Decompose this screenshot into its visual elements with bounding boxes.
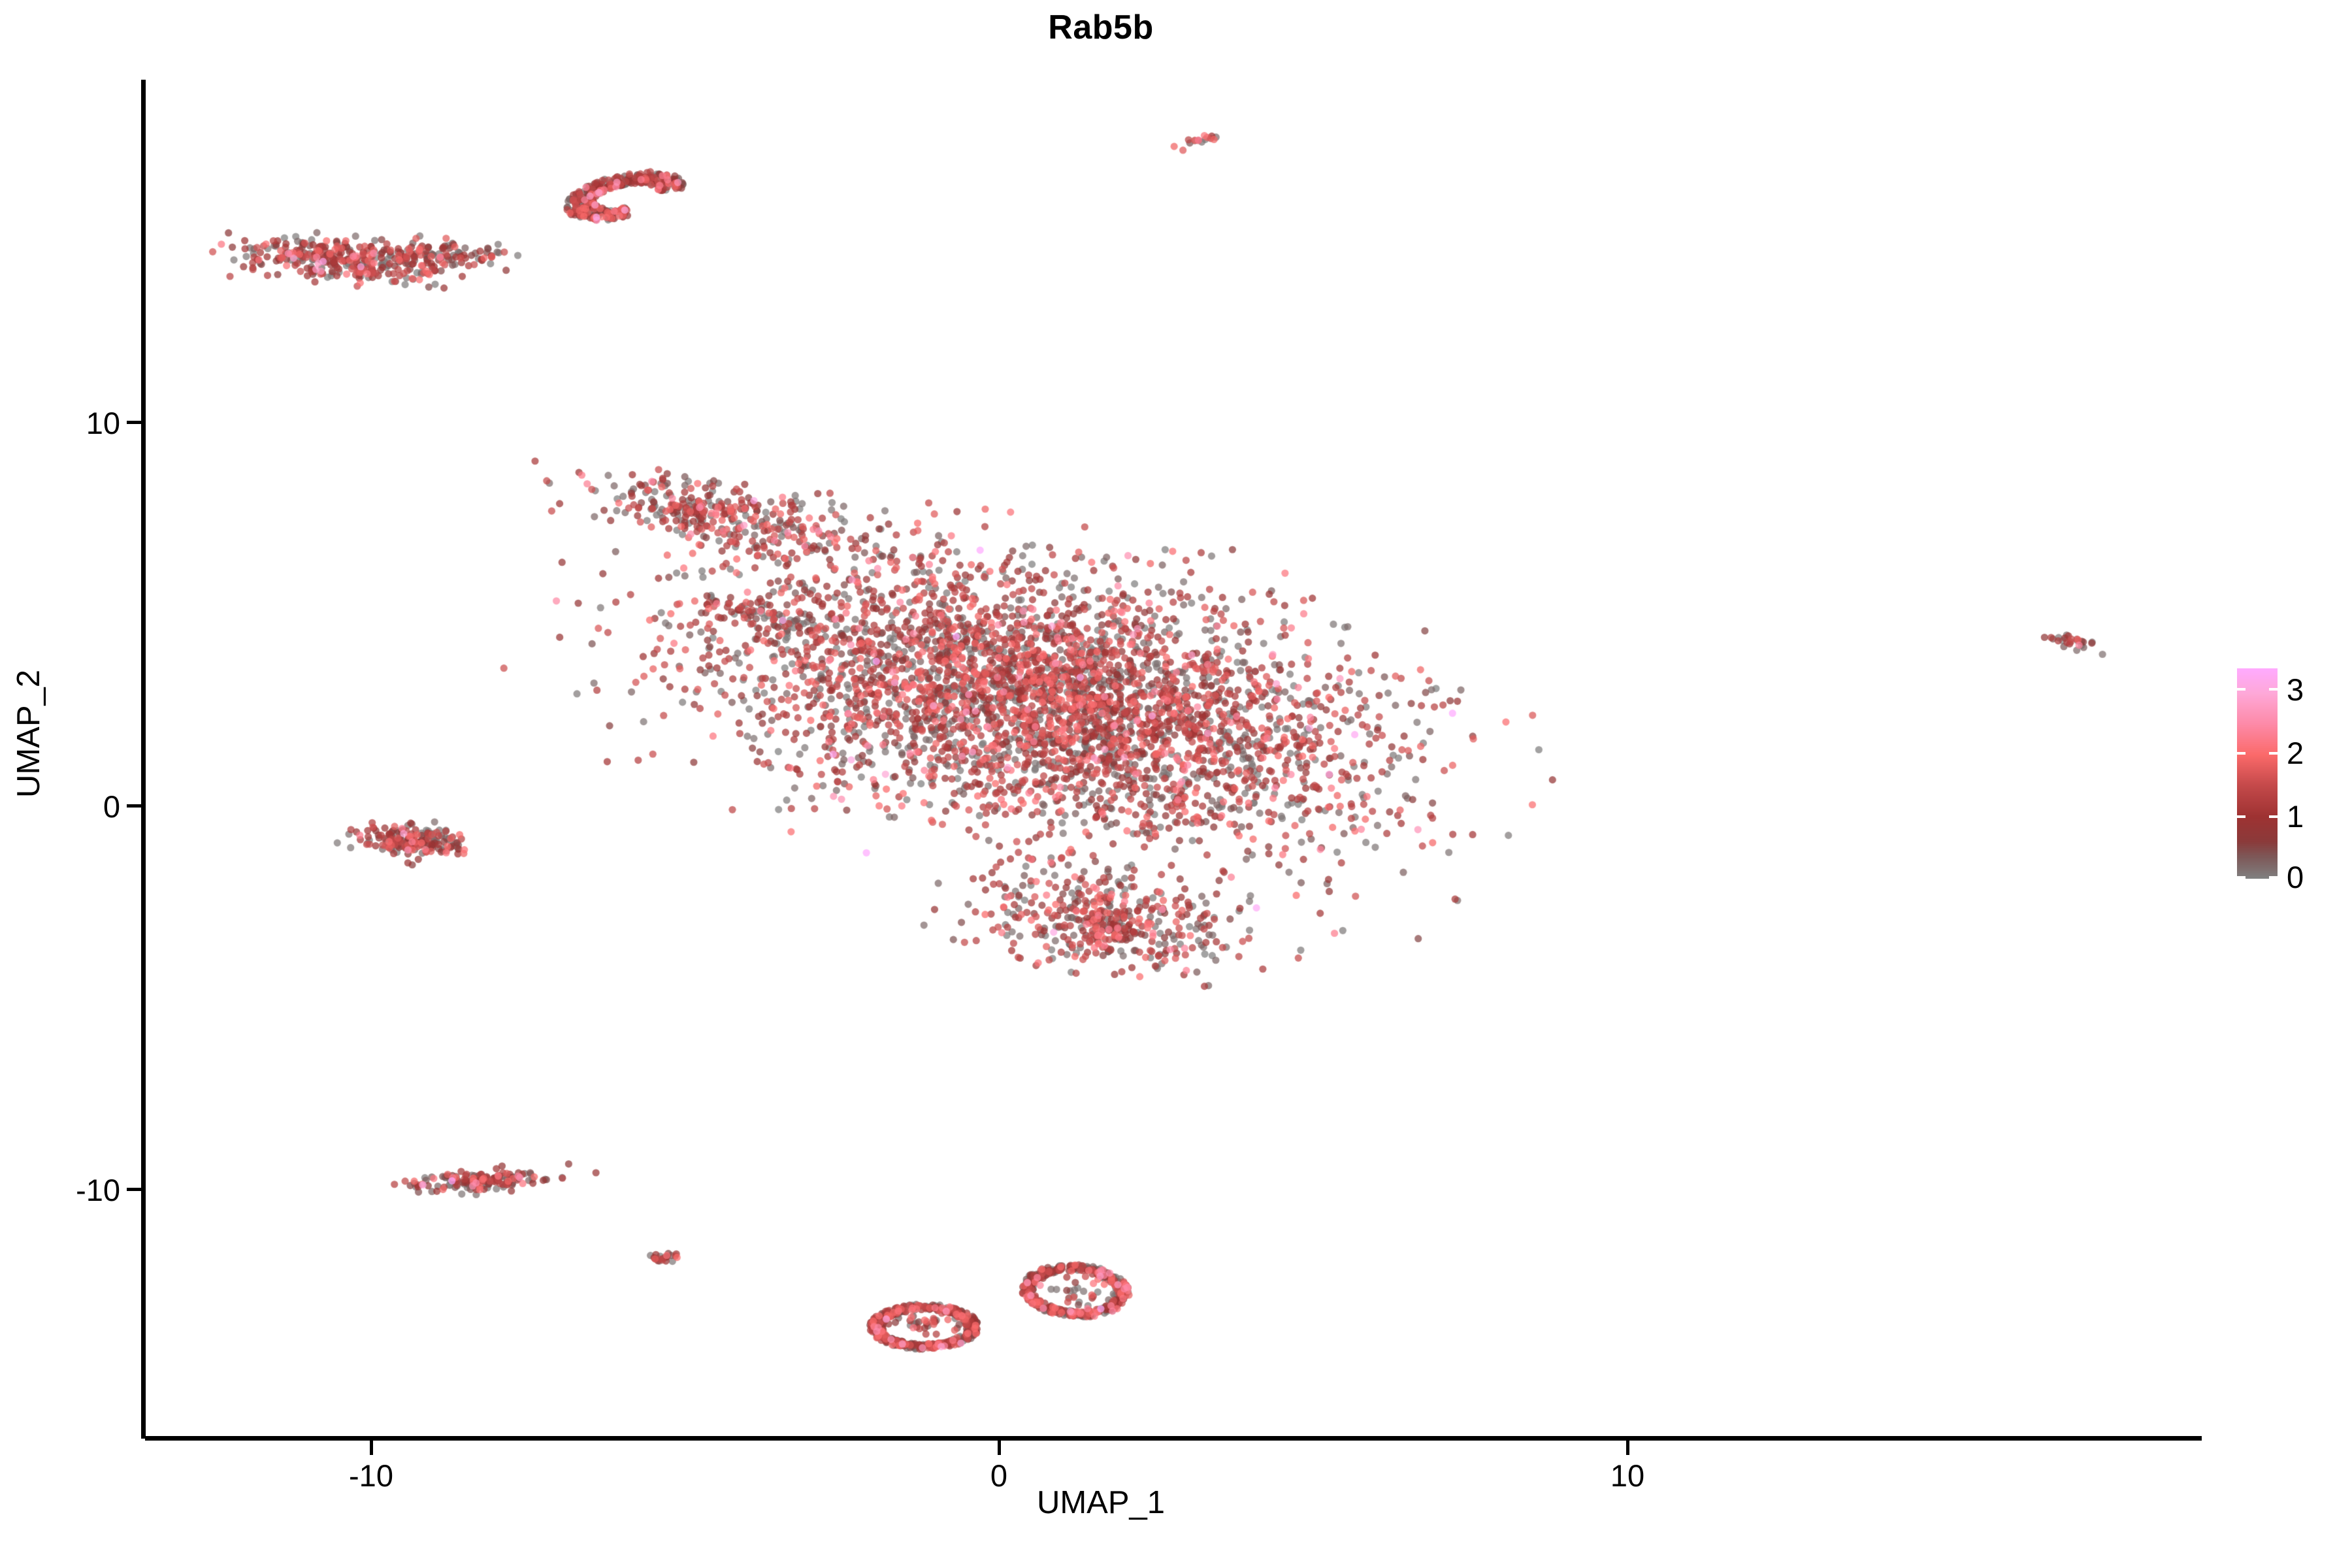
- plot-panel: [145, 80, 2202, 1439]
- colorbar-label-2: 2: [2287, 738, 2304, 768]
- x-axis-title: UMAP_1: [0, 1484, 2202, 1521]
- y-axis-title: UMAP_2: [10, 570, 47, 897]
- x-tick-mark-2: [1626, 1441, 1629, 1455]
- x-tick-mark-0: [370, 1441, 373, 1455]
- page-title: Rab5b: [0, 8, 2202, 47]
- x-tick-mark-1: [998, 1441, 1001, 1455]
- y-tick-mark-2: [127, 1188, 141, 1191]
- y-tick-mark-1: [127, 804, 141, 808]
- scatter-points-canvas: [145, 80, 2202, 1439]
- umap-feature-plot: Rab5b -10 0 10 10 0 -10 UMAP_1 UMAP_2 3 …: [0, 0, 2352, 1568]
- colorbar-gradient: [2237, 668, 2278, 879]
- y-tick-label-0: 10: [0, 405, 120, 441]
- y-tick-mark-0: [127, 421, 141, 424]
- y-tick-label-2: -10: [0, 1172, 120, 1208]
- colorbar-label-3: 3: [2287, 674, 2304, 705]
- y-axis-line: [141, 80, 146, 1439]
- colorbar-label-0: 0: [2287, 862, 2304, 892]
- colorbar-legend: 3 2 1 0: [2237, 668, 2335, 884]
- colorbar-label-1: 1: [2287, 801, 2304, 832]
- x-axis-line: [145, 1436, 2202, 1441]
